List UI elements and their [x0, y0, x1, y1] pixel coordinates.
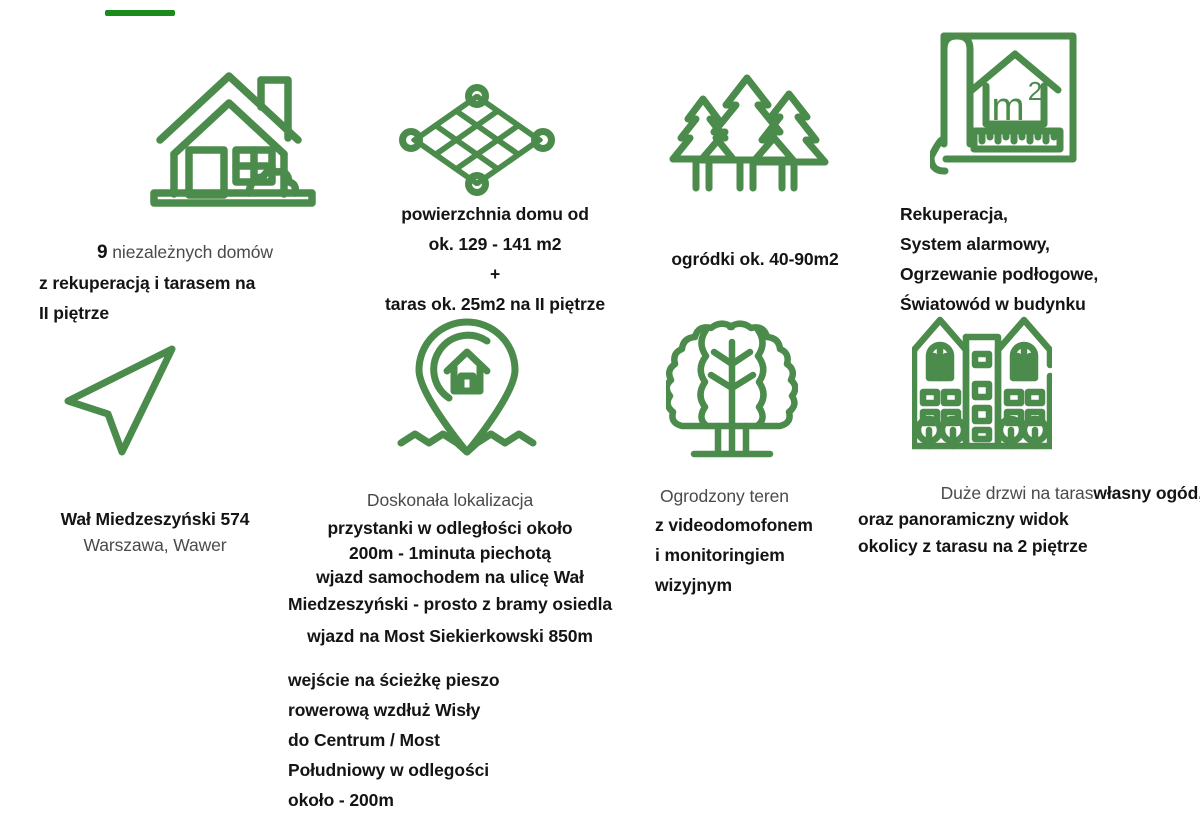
svg-text:m: m: [991, 85, 1024, 129]
terrace-line3: okolicy z tarasu na 2 piętrze: [858, 533, 1200, 560]
feature-text-installations: Rekuperacja, System alarmowy, Ogrzewanie…: [900, 199, 1190, 319]
houses-line2: z rekuperacją i tarasem na: [39, 268, 335, 298]
installations-line2: System alarmowy,: [900, 229, 1190, 259]
location-line5: Miedzeszyński - prosto z bramy osiedla: [255, 590, 645, 618]
accent-rule: [105, 10, 175, 16]
feature-text-location-cont: wejście na ścieżkę pieszo rowerową wzdłu…: [288, 665, 618, 815]
area-line3: +: [355, 259, 635, 289]
location-line7: wejście na ścieżkę pieszo: [288, 665, 618, 695]
grid-diamond-icon: [396, 84, 558, 196]
terrace-line2: oraz panoramiczny widok: [858, 506, 1200, 533]
feature-text-gardens: ogródki ok. 40-90m2: [640, 246, 870, 273]
location-line3: 200m - 1minuta piechotą: [255, 542, 645, 566]
terrace-grey-lead: Duże drzwi na taras: [941, 483, 1094, 503]
area-line1: powierzchnia domu od: [355, 199, 635, 229]
terrace-bold-lead: własny ogód,: [1093, 483, 1200, 503]
area-line4: taras ok. 25m2 na II piętrze: [355, 289, 635, 319]
pine-trees-icon: [663, 70, 841, 192]
location-line6: wjazd na Most Siekierkowski 850m: [255, 618, 645, 656]
blueprint-m2-icon: m 2: [930, 28, 1085, 178]
location-line10: Południowy w odlegości: [288, 755, 618, 785]
infographic-page: 9 niezależnych domów z rekuperacją i tar…: [0, 0, 1200, 805]
location-line4: wjazd samochodem na ulicę Wał: [255, 566, 645, 590]
location-line8: rowerową wzdłuż Wisły: [288, 695, 618, 725]
navigation-arrow-icon: [60, 340, 185, 460]
location-line9: do Centrum / Most: [288, 725, 618, 755]
installations-line1: Rekuperacja,: [900, 199, 1190, 229]
feature-text-houses: 9 niezależnych domów z rekuperacją i tar…: [35, 239, 335, 328]
houses-line3: II piętrze: [39, 298, 335, 328]
security-line4: wizyjnym: [655, 570, 910, 600]
house-icon: [148, 62, 318, 214]
location-line2: przystanki w odległości około: [255, 514, 645, 542]
svg-text:2: 2: [1028, 76, 1042, 106]
feature-text-area: powierzchnia domu od ok. 129 - 141 m2 + …: [355, 199, 635, 319]
location-line1: Doskonała lokalizacja: [255, 487, 645, 514]
gardens-line1: ogródki ok. 40-90m2: [640, 246, 870, 273]
area-line2: ok. 129 - 141 m2: [355, 229, 635, 259]
leafy-tree-icon: [666, 318, 798, 463]
feature-text-terrace: Duże drzwi na taraswłasny ogód, oraz pan…: [858, 480, 1200, 561]
location-line11: około - 200m: [288, 785, 618, 815]
feature-text-location: Doskonała lokalizacja przystanki w odleg…: [255, 487, 645, 655]
houses-count: 9: [97, 242, 107, 263]
buildings-icon: [912, 310, 1052, 453]
map-pin-house-icon: [387, 318, 547, 463]
installations-line3: Ogrzewanie podłogowe,: [900, 259, 1190, 289]
houses-label: niezależnych domów: [112, 242, 273, 262]
